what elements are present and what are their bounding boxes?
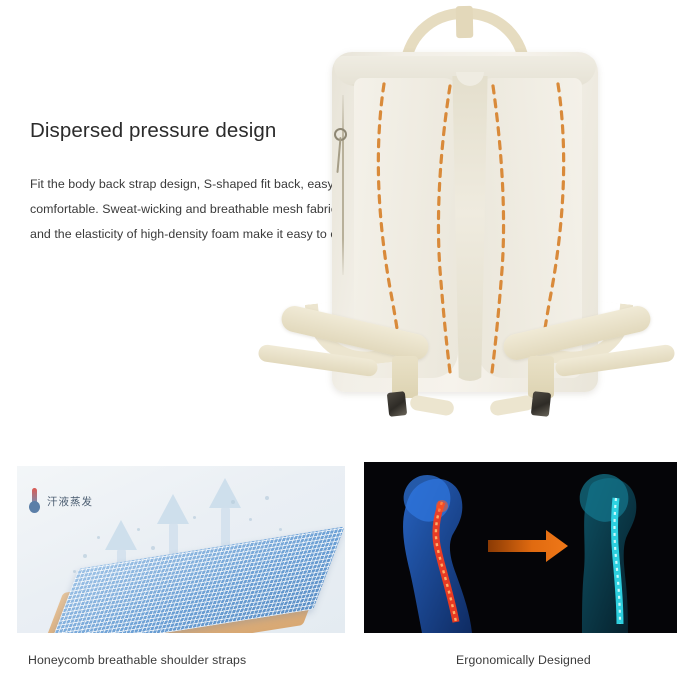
backpack-illustration xyxy=(250,0,700,452)
evaporation-arrow-3 xyxy=(209,478,241,508)
product-feature-page: Dispersed pressure design Fit the body b… xyxy=(0,0,700,700)
caption-ergonomic: Ergonomically Designed xyxy=(456,653,591,667)
posture-comparison-illustration xyxy=(364,462,677,633)
strap-tip-left xyxy=(409,394,455,416)
caption-honeycomb: Honeycomb breathable shoulder straps xyxy=(28,653,246,667)
thermometer-icon xyxy=(29,488,40,514)
strap-buckle-right xyxy=(531,391,551,417)
sweat-evaporation-tag: 汗液蒸发 xyxy=(29,488,93,514)
feature-panel-ergonomic xyxy=(364,462,677,633)
strap-buckle-left xyxy=(387,391,407,417)
backpack-hero-image xyxy=(250,0,700,452)
honeycomb-pad-illustration xyxy=(41,528,331,633)
side-zipper-track xyxy=(342,95,344,275)
sweat-evaporation-label: 汗液蒸发 xyxy=(47,494,93,509)
evaporation-arrow-2 xyxy=(157,494,189,524)
handle-keeper-loop xyxy=(456,6,474,38)
feature-panel-honeycomb: 汗液蒸发 xyxy=(17,466,345,633)
strap-tip-right xyxy=(489,394,535,416)
